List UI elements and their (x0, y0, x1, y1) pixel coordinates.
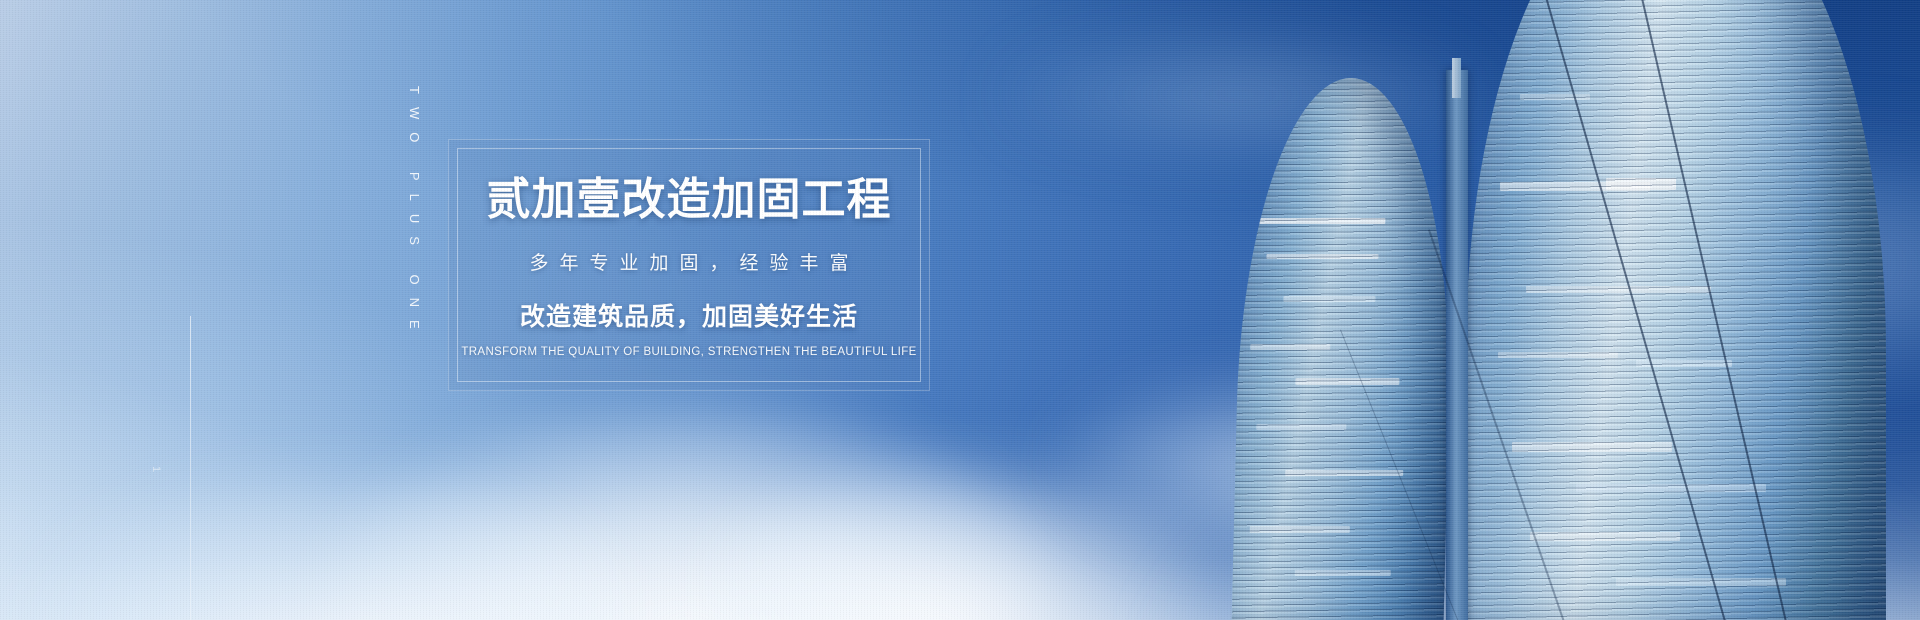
hero-text-panel: 贰加壹改造加固工程 多年专业加固，经验丰富 改造建筑品质，加固美好生活 TRAN… (448, 139, 930, 391)
tower-spire (1452, 58, 1461, 98)
vertical-brand-text: TWO PLUS ONE (182, 86, 422, 342)
window-band (1256, 424, 1346, 430)
window-band (1295, 570, 1391, 576)
window-band (1259, 218, 1385, 224)
brand-rail: TWO PLUS ONE 1 (178, 0, 218, 620)
window-band (1616, 578, 1786, 586)
window-band (1285, 470, 1403, 476)
window-band (1576, 484, 1766, 492)
window-band (1283, 296, 1375, 302)
window-band (1500, 182, 1650, 191)
page-tagline-english: TRANSFORM THE QUALITY OF BUILDING, STREN… (461, 346, 916, 358)
window-band (1250, 344, 1330, 350)
window-band (1512, 442, 1672, 452)
brand-divider-line (190, 316, 191, 620)
window-band (1520, 94, 1590, 100)
window-band (1498, 352, 1618, 358)
skyscrapers-photo (1220, 0, 1920, 620)
page-tagline: 改造建筑品质，加固美好生活 (520, 297, 858, 333)
window-band (1606, 178, 1676, 190)
back-tower (1466, 0, 1886, 620)
page-title: 贰加壹改造加固工程 (487, 178, 892, 222)
window-band (1266, 254, 1378, 259)
front-tower (1231, 78, 1457, 620)
slide-number: 1 (150, 466, 162, 472)
window-band (1526, 286, 1711, 293)
page-subtitle: 多年专业加固，经验丰富 (518, 248, 859, 275)
tower-mullion (1446, 70, 1468, 620)
hero-banner: TWO PLUS ONE 1 贰加壹改造加固工程 多年专业加固，经验丰富 改造建… (0, 0, 1920, 620)
window-band (1295, 378, 1399, 385)
window-band (1530, 532, 1680, 541)
window-band (1250, 526, 1350, 533)
hero-panel-content: 贰加壹改造加固工程 多年专业加固，经验丰富 改造建筑品质，加固美好生活 TRAN… (449, 140, 929, 390)
